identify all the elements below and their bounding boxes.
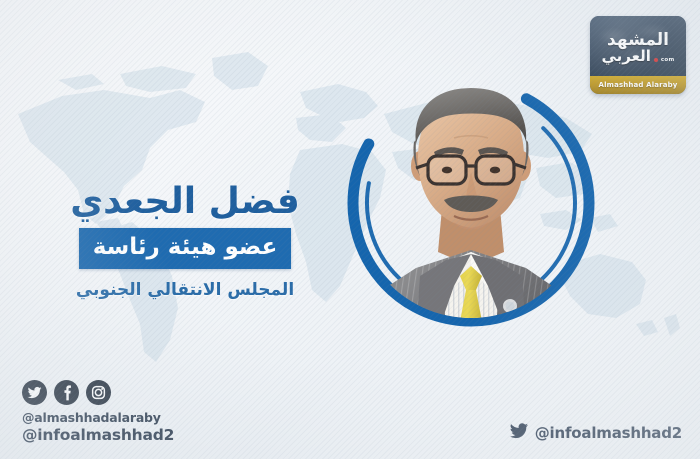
brand-logo[interactable]: المشهد com العربي Almashhad Alaraby (590, 16, 686, 94)
logo-red-dot (654, 58, 658, 62)
logo-arabic-line1: المشهد (607, 32, 669, 48)
logo-latin-bar: Almashhad Alaraby (590, 76, 686, 94)
footer-handle[interactable]: @infoalmashhad2 (535, 424, 682, 442)
logo-latin-name: Almashhad Alaraby (599, 81, 678, 89)
footer-twitter[interactable]: @infoalmashhad2 (510, 423, 682, 443)
handle-primary[interactable]: @almashhadalaraby (22, 410, 174, 426)
portrait-photo (358, 80, 584, 328)
title-block: فضل الجعدي عضو هيئة رئاسة المجلس الانتقا… (65, 180, 305, 302)
logo-arabic-line2: العربي (601, 49, 650, 64)
logo-top: المشهد com العربي (590, 16, 686, 76)
social-block: @almashhadalaraby @infoalmashhad2 (22, 380, 174, 445)
twitter-icon[interactable] (22, 380, 47, 405)
logo-com-label: com (661, 57, 675, 63)
organization-label: المجلس الانتقالي الجنوبي (65, 278, 305, 302)
social-icons (22, 380, 174, 405)
twitter-icon[interactable] (510, 423, 528, 443)
portrait (340, 72, 602, 334)
facebook-icon[interactable] (54, 380, 79, 405)
role-badge: عضو هيئة رئاسة (79, 228, 292, 269)
instagram-icon[interactable] (86, 380, 111, 405)
person-name: فضل الجعدي (65, 180, 305, 224)
promo-card: المشهد com العربي Almashhad Alaraby فضل … (0, 0, 700, 459)
logo-line2: com العربي (601, 49, 674, 64)
handle-secondary[interactable]: @infoalmashhad2 (22, 426, 174, 445)
